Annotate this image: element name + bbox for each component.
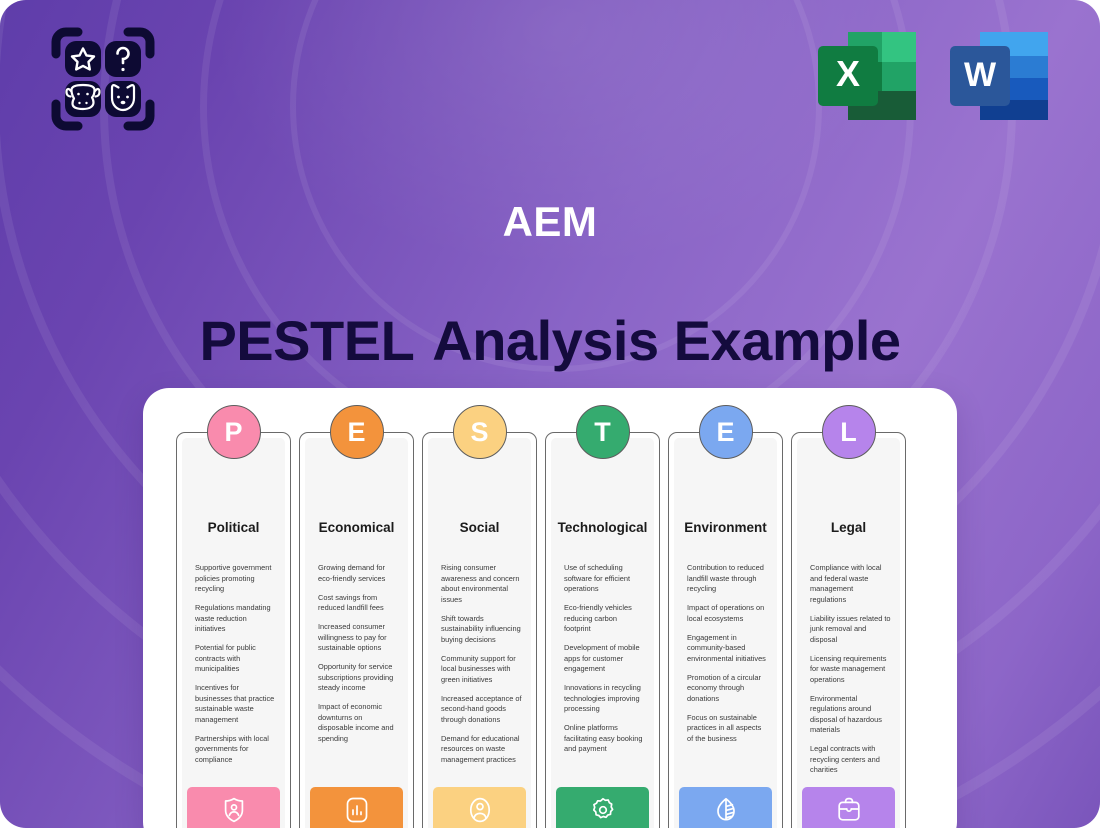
column-title: Economical xyxy=(305,520,408,535)
column-item-list: Growing demand for eco-friendly services… xyxy=(318,563,399,753)
leaf-icon[interactable] xyxy=(679,787,772,828)
column-body: EconomicalGrowing demand for eco-friendl… xyxy=(305,438,408,828)
column-letter-badge: E xyxy=(330,405,384,459)
list-item: Promotion of a circular economy through … xyxy=(687,673,768,705)
list-item: Potential for public contracts with muni… xyxy=(195,643,276,675)
list-item: Use of scheduling software for efficient… xyxy=(564,563,645,595)
list-item: Contribution to reduced landfill waste t… xyxy=(687,563,768,595)
word-icon[interactable]: W xyxy=(948,28,1052,124)
column-item-list: Contribution to reduced landfill waste t… xyxy=(687,563,768,753)
list-item: Demand for educational resources on wast… xyxy=(441,734,522,766)
list-item: Increased acceptance of second-hand good… xyxy=(441,694,522,726)
column-body: EnvironmentContribution to reduced landf… xyxy=(674,438,777,828)
person-icon[interactable] xyxy=(433,787,526,828)
column-title: Environment xyxy=(674,520,777,535)
page-eyebrow: AEM xyxy=(0,198,1100,246)
page-title-bold: PESTEL xyxy=(199,309,414,372)
column-title: Technological xyxy=(551,520,654,535)
svg-text:X: X xyxy=(836,53,860,94)
pestel-column-environment[interactable]: EnvironmentContribution to reduced landf… xyxy=(668,432,783,828)
pet-scan-logo-icon[interactable] xyxy=(48,24,158,134)
pestel-column-social[interactable]: SocialRising consumer awareness and conc… xyxy=(422,432,537,828)
column-item-list: Rising consumer awareness and concern ab… xyxy=(441,563,522,774)
column-title: Social xyxy=(428,520,531,535)
column-letter-badge: S xyxy=(453,405,507,459)
list-item: Incentives for businesses that practice … xyxy=(195,683,276,725)
list-item: Engagement in community-based environmen… xyxy=(687,633,768,665)
list-item: Rising consumer awareness and concern ab… xyxy=(441,563,522,605)
pestel-card: PoliticalSupportive government policies … xyxy=(143,388,957,828)
svg-text:W: W xyxy=(964,56,997,94)
shield-person-icon[interactable] xyxy=(187,787,280,828)
list-item: Environmental regulations around disposa… xyxy=(810,694,891,736)
column-body: SocialRising consumer awareness and conc… xyxy=(428,438,531,828)
list-item: Cost savings from reduced landfill fees xyxy=(318,593,399,614)
list-item: Eco-friendly vehicles reducing carbon fo… xyxy=(564,603,645,635)
pestel-columns: PoliticalSupportive government policies … xyxy=(176,432,906,828)
pestel-column-political[interactable]: PoliticalSupportive government policies … xyxy=(176,432,291,828)
pestel-column-economical[interactable]: EconomicalGrowing demand for eco-friendl… xyxy=(299,432,414,828)
list-item: Opportunity for service subscriptions pr… xyxy=(318,662,399,694)
list-item: Liability issues related to junk removal… xyxy=(810,614,891,646)
list-item: Increased consumer willingness to pay fo… xyxy=(318,622,399,654)
page-title-rest: Analysis Example xyxy=(432,309,900,372)
column-letter-badge: P xyxy=(207,405,261,459)
briefcase-icon[interactable] xyxy=(802,787,895,828)
list-item: Growing demand for eco-friendly services xyxy=(318,563,399,584)
column-body: PoliticalSupportive government policies … xyxy=(182,438,285,828)
column-title: Legal xyxy=(797,520,900,535)
column-body: TechnologicalUse of scheduling software … xyxy=(551,438,654,828)
excel-icon[interactable]: X xyxy=(816,28,920,124)
list-item: Legal contracts with recycling centers a… xyxy=(810,744,891,776)
list-item: Development of mobile apps for customer … xyxy=(564,643,645,675)
list-item: Impact of operations on local ecosystems xyxy=(687,603,768,624)
list-item: Community support for local businesses w… xyxy=(441,654,522,686)
column-letter-badge: T xyxy=(576,405,630,459)
slide-canvas: X W AEM PESTELAnalysis Example Political… xyxy=(0,0,1100,828)
list-item: Shift towards sustainability influencing… xyxy=(441,614,522,646)
list-item: Partnerships with local governments for … xyxy=(195,734,276,766)
list-item: Licensing requirements for waste managem… xyxy=(810,654,891,686)
list-item: Focus on sustainable practices in all as… xyxy=(687,713,768,745)
column-item-list: Use of scheduling software for efficient… xyxy=(564,563,645,763)
pestel-column-legal[interactable]: LegalCompliance with local and federal w… xyxy=(791,432,906,828)
pestel-column-technological[interactable]: TechnologicalUse of scheduling software … xyxy=(545,432,660,828)
column-body: LegalCompliance with local and federal w… xyxy=(797,438,900,828)
list-item: Compliance with local and federal waste … xyxy=(810,563,891,605)
column-item-list: Compliance with local and federal waste … xyxy=(810,563,891,784)
column-letter-badge: L xyxy=(822,405,876,459)
list-item: Regulations mandating waste reduction in… xyxy=(195,603,276,635)
page-title: PESTELAnalysis Example xyxy=(0,308,1100,373)
list-item: Online platforms facilitating easy booki… xyxy=(564,723,645,755)
column-letter-badge: E xyxy=(699,405,753,459)
list-item: Innovations in recycling technologies im… xyxy=(564,683,645,715)
bar-chart-icon[interactable] xyxy=(310,787,403,828)
gear-icon[interactable] xyxy=(556,787,649,828)
list-item: Impact of economic downturns on disposab… xyxy=(318,702,399,744)
list-item: Supportive government policies promoting… xyxy=(195,563,276,595)
office-icon-group: X W xyxy=(816,28,1052,124)
column-item-list: Supportive government policies promoting… xyxy=(195,563,276,774)
column-title: Political xyxy=(182,520,285,535)
